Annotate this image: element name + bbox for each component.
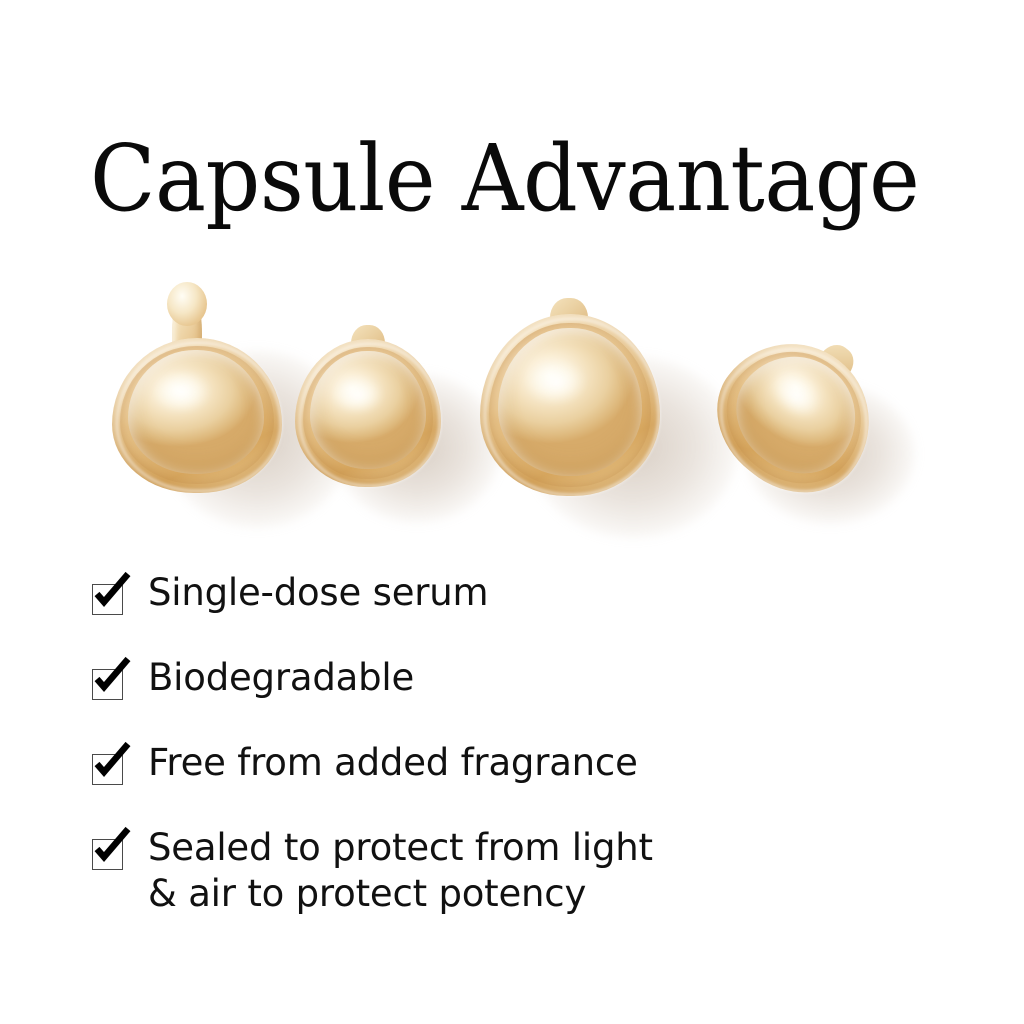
feature-label: Sealed to protect from light & air to pr… (148, 826, 653, 915)
list-item: Free from added fragrance (90, 740, 970, 825)
checkbox-checked-icon (92, 754, 123, 785)
capsule-stem-tip (167, 282, 207, 326)
list-item: Single-dose serum (90, 570, 970, 655)
capsule-tilted (715, 332, 915, 522)
capsule-product-image (0, 270, 1024, 530)
capsule-body (295, 325, 443, 490)
capsule-highlight (333, 377, 383, 413)
feature-label: Single-dose serum (148, 571, 488, 614)
capsule-small (295, 325, 495, 520)
feature-list: Single-dose serum Biodegradable Free fro… (90, 570, 970, 917)
capsule-highlight (526, 360, 586, 404)
capsule-rim-light (116, 342, 282, 492)
list-item: Biodegradable (90, 655, 970, 740)
checkbox-checked-icon (92, 669, 123, 700)
capsule-highlight (154, 372, 210, 412)
feature-label: Free from added fragrance (148, 741, 638, 784)
page-title: Capsule Advantage (90, 133, 919, 225)
feature-label: Biodegradable (148, 656, 414, 699)
capsule-body (480, 298, 662, 498)
list-item: Sealed to protect from light & air to pr… (90, 825, 970, 917)
capsule-large (480, 298, 730, 523)
capsule-rim-light (299, 343, 441, 487)
checkbox-checked-icon (92, 839, 123, 870)
capsule-body (110, 280, 290, 495)
capsule-rim-light (484, 318, 660, 496)
checkbox-checked-icon (92, 584, 123, 615)
